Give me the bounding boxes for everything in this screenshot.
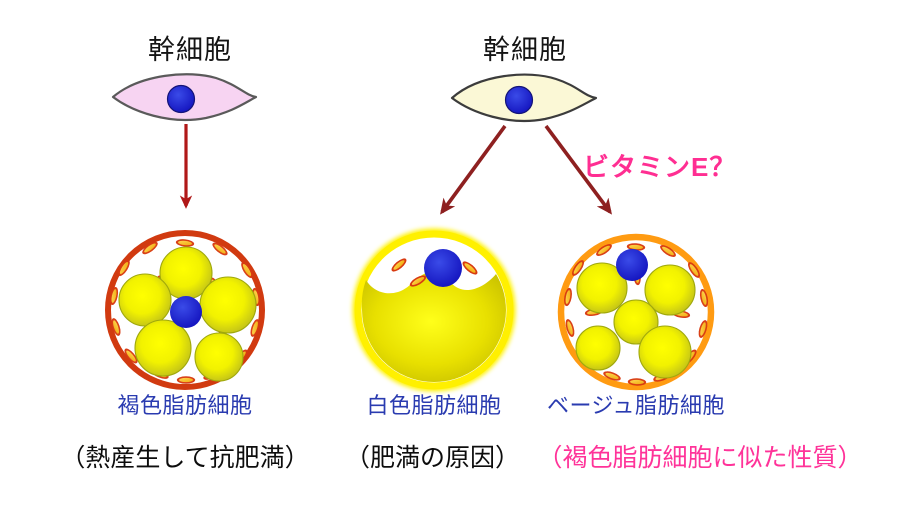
stem-cell-left-nucleus: [168, 86, 195, 113]
stem-cell-right-nucleus: [506, 87, 533, 114]
stem-cell-title-left: 幹細胞: [80, 28, 300, 67]
white-adipocyte-label: 白色脂肪細胞: [334, 388, 534, 420]
white-adipocyte-membrane: [358, 234, 510, 386]
stem-cell-left: [113, 74, 256, 120]
brown-adipocyte-nucleus: [170, 296, 202, 328]
diagram-canvas: 幹細胞 幹細胞: [0, 0, 900, 520]
brown-adipocyte-mitochondria: [108, 238, 261, 383]
beige-adipocyte-lipid-droplets: [576, 263, 695, 378]
arrow-right-to-white: [442, 126, 505, 212]
white-adipocyte: [358, 234, 510, 386]
brown-adipocyte-label: 褐色脂肪細胞: [85, 388, 285, 420]
beige-adipocyte-mitochondria: [563, 242, 710, 386]
white-adipocyte-caption: （肥満の原因）: [325, 438, 540, 474]
brown-adipocyte-lipid-droplets: [119, 247, 256, 381]
white-adipocyte-lipid-droplet: [362, 272, 506, 382]
brown-adipocyte-membrane: [108, 233, 262, 387]
white-adipocyte-mitochondria: [390, 256, 480, 289]
beige-adipocyte-caption: （褐色脂肪細胞に似た性質）: [520, 438, 880, 474]
white-adipocyte-nucleus: [424, 249, 462, 287]
stem-cell-title-right: 幹細胞: [415, 28, 635, 67]
brown-adipocyte-caption: （熱産生して抗肥満）: [45, 438, 325, 474]
beige-adipocyte-membrane: [561, 237, 711, 387]
beige-adipocyte: [561, 237, 711, 387]
stem-cell-right: [452, 75, 596, 121]
brown-adipocyte: [108, 233, 262, 387]
beige-adipocyte-nucleus: [616, 249, 648, 281]
beige-adipocyte-label: ベージュ脂肪細胞: [524, 388, 748, 420]
vitamin-e-annotation: ビタミンE？: [583, 147, 736, 184]
